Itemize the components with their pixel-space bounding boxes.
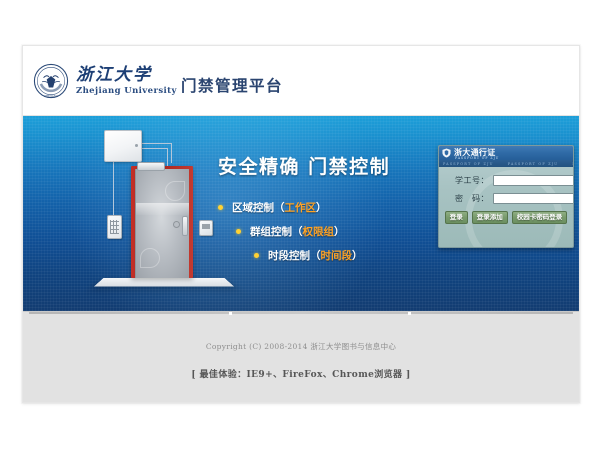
list-item: 群组控制（权限组） xyxy=(236,224,418,239)
feature-tail: ） xyxy=(352,248,363,263)
login-title-en: PASSPORT OF ZJU xyxy=(455,156,499,160)
password-label: 密 码： xyxy=(447,193,493,204)
login-stripe: PASSPORT OF ZJU PASSPORT OF ZJU PASSPORT… xyxy=(439,160,573,167)
door-scroll-ornament xyxy=(165,181,185,201)
login-add-button[interactable]: 登录添加 xyxy=(472,211,508,224)
login-panel: 浙大通行证 PASSPORT OF ZJU PASSPORT OF ZJU PA… xyxy=(438,145,574,248)
banner-headline: 安全精确 门禁控制 xyxy=(218,152,418,179)
door-scroll-ornament xyxy=(140,248,160,268)
controller-box xyxy=(104,130,142,162)
login-button-row: 登录 登录添加 校园卡密码登录 xyxy=(447,211,565,224)
brand[interactable]: ZHEJIANG 浙江大学 Zhejiang University xyxy=(33,63,177,99)
footer-notch xyxy=(229,312,232,315)
brand-name-en: Zhejiang University xyxy=(76,87,177,96)
wire-top xyxy=(140,143,172,144)
stripe-text: PASSPORT OF ZJU xyxy=(572,162,573,166)
list-item: 时段控制（时间段） xyxy=(254,248,418,263)
zju-seal-icon: ZHEJIANG xyxy=(33,63,69,99)
password-input[interactable] xyxy=(493,193,574,204)
stripe-text: PASSPORT OF ZJU xyxy=(443,162,494,166)
stripe-text: PASSPORT OF ZJU xyxy=(508,162,559,166)
list-item: 区域控制（工作区） xyxy=(218,200,418,215)
login-button[interactable]: 登录 xyxy=(445,211,468,224)
floor-plate xyxy=(94,278,234,286)
brand-name-cn: 浙江大学 xyxy=(76,67,177,84)
door-leaf xyxy=(135,169,189,278)
brand-names: 浙江大学 Zhejiang University xyxy=(76,67,177,96)
feature-label: 区域控制（ xyxy=(232,200,285,215)
keypad-reader xyxy=(107,215,122,239)
site-header: ZHEJIANG 浙江大学 Zhejiang University 门禁管理平台 xyxy=(23,46,579,116)
account-label: 学工号： xyxy=(447,175,493,186)
banner-feature-list: 区域控制（工作区） 群组控制（权限组） 时段控制（时间段） xyxy=(218,200,418,263)
door-handle xyxy=(182,216,188,236)
bullet-dot-icon xyxy=(218,205,223,210)
feature-label: 时段控制（ xyxy=(268,248,321,263)
feature-tail: ） xyxy=(316,200,327,215)
feature-highlight: 工作区 xyxy=(285,200,317,215)
footer-divider xyxy=(29,312,573,314)
door-access-control-illustration xyxy=(51,124,231,309)
field-row-account: 学工号： xyxy=(447,175,565,186)
svg-text:ZHEJIANG: ZHEJIANG xyxy=(44,95,58,98)
keypad-grid xyxy=(110,220,119,234)
footer-notch xyxy=(408,312,411,315)
door-knob xyxy=(173,221,180,228)
page-title: 门禁管理平台 xyxy=(181,74,283,96)
banner-copy: 安全精确 门禁控制 区域控制（工作区） 群组控制（权限组） 时段控制（时间段） xyxy=(218,152,418,272)
bullet-dot-icon xyxy=(254,253,259,258)
page-card: ZHEJIANG 浙江大学 Zhejiang University 门禁管理平台 xyxy=(22,45,580,403)
door-closer xyxy=(137,162,165,171)
login-titlebar: 浙大通行证 PASSPORT OF ZJU xyxy=(439,146,573,160)
feature-highlight: 权限组 xyxy=(303,224,335,239)
wire-left-drop xyxy=(113,160,114,216)
hero-banner: 安全精确 门禁控制 区域控制（工作区） 群组控制（权限组） 时段控制（时间段） xyxy=(23,116,579,311)
site-footer: Copyright (C) 2008-2014 浙江大学图书与信息中心 [ 最佳… xyxy=(23,311,579,403)
wire-top-drop xyxy=(171,143,172,163)
bullet-dot-icon xyxy=(236,229,241,234)
browser-support-note: [ 最佳体验：IE9+、FireFox、Chrome浏览器 ] xyxy=(23,367,579,380)
feature-highlight: 时间段 xyxy=(321,248,353,263)
login-form: 学工号： 密 码： 登录 登录添加 校园卡密码登录 xyxy=(439,167,573,224)
field-row-password: 密 码： xyxy=(447,193,565,204)
wire-right xyxy=(140,148,168,149)
card-reader xyxy=(199,220,213,236)
shield-icon xyxy=(442,148,451,158)
copyright-text: Copyright (C) 2008-2014 浙江大学图书与信息中心 xyxy=(23,312,579,352)
feature-tail: ） xyxy=(334,224,345,239)
account-input[interactable] xyxy=(493,175,574,186)
feature-label: 群组控制（ xyxy=(250,224,303,239)
campus-card-login-button[interactable]: 校园卡密码登录 xyxy=(512,211,568,224)
